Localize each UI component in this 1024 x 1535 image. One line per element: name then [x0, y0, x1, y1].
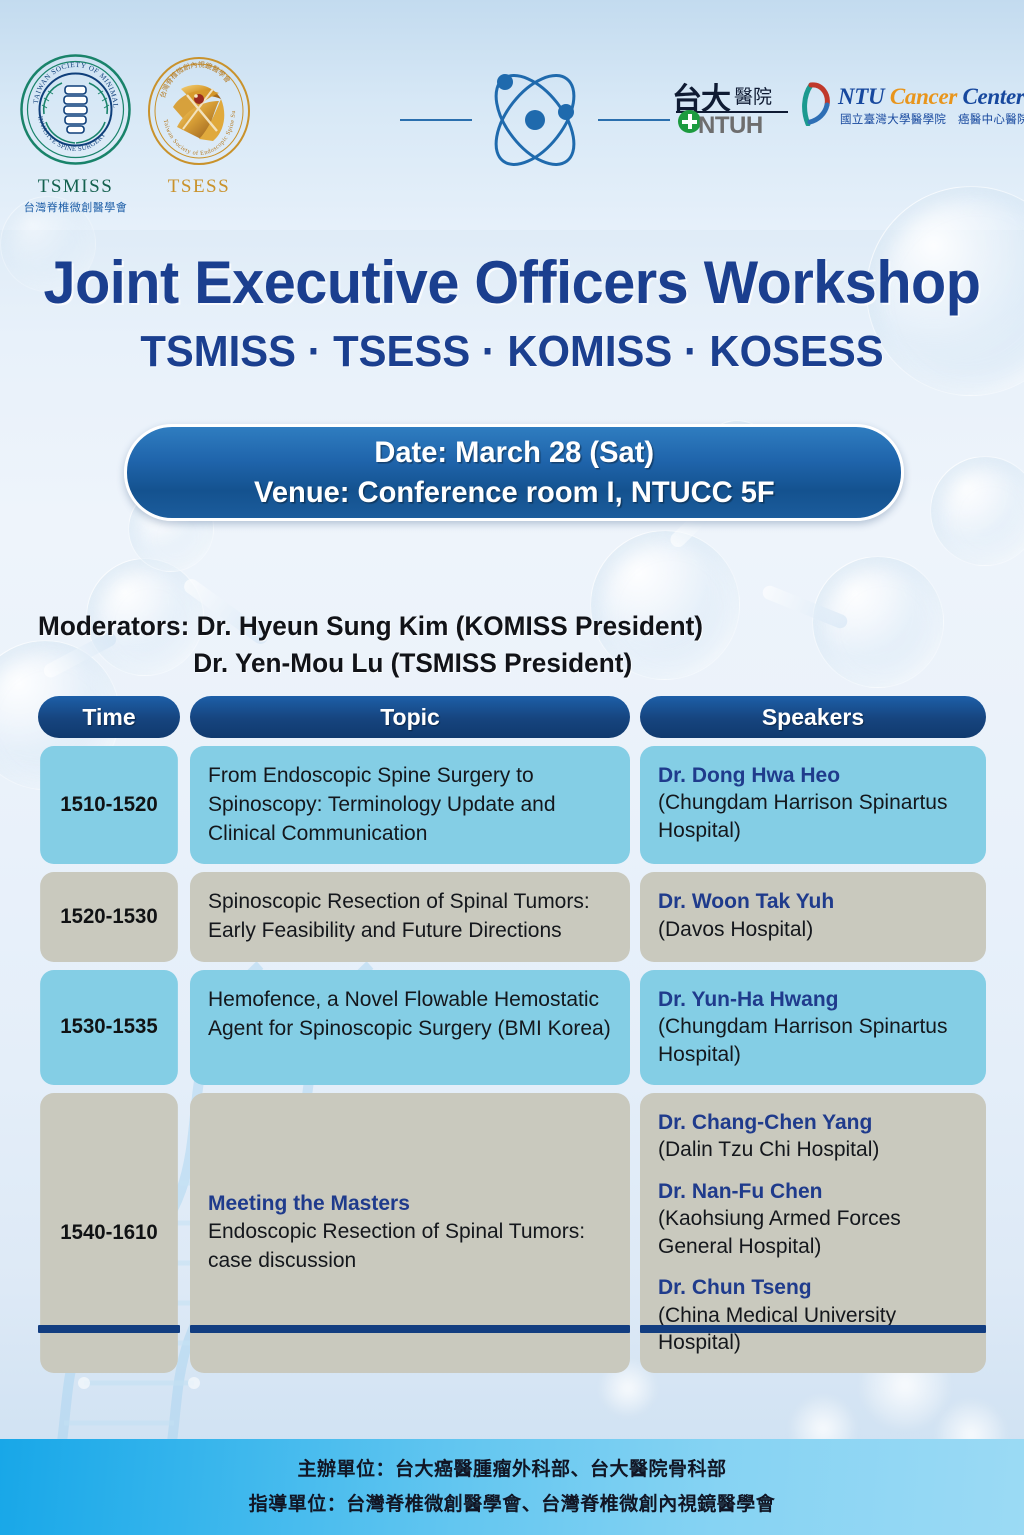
speaker-entry: Dr. Chun Tseng (China Medical University… — [658, 1274, 968, 1357]
tsess-logo: 台灣脊椎微創內視鏡醫學會 Taiwan Society of Endoscopi… — [140, 55, 258, 198]
moderator-line-1: Moderators: Dr. Hyeun Sung Kim (KOMISS P… — [38, 608, 717, 645]
row-topic-body: Endoscopic Resection of Spinal Tumors: c… — [208, 1220, 585, 1272]
ncc-cancer-text: Cancer — [890, 84, 957, 109]
column-header-topic: Topic — [190, 696, 630, 738]
table-bottom-rules — [38, 1325, 986, 1333]
row-topic: Hemofence, a Novel Flowable Hemostatic A… — [190, 970, 630, 1085]
row-time: 1520-1530 — [40, 872, 178, 962]
bottom-rule-speakers — [640, 1325, 986, 1333]
row-speakers: Dr. Woon Tak Yuh (Davos Hospital) — [640, 872, 986, 962]
table-row: 1530-1535 Hemofence, a Novel Flowable He… — [38, 970, 986, 1085]
speaker-name: Dr. Chang-Chen Yang — [658, 1109, 968, 1136]
page-subtitle: TSMISS · TSESS · KOMISS · KOSESS — [26, 327, 999, 377]
tsmiss-abbr: TSMISS — [18, 176, 133, 198]
row-topic-text: Spinoscopic Resection of Spinal Tumors: … — [208, 888, 612, 946]
speaker-name: Dr. Dong Hwa Heo — [658, 762, 968, 789]
ntuh-cjk-suffix: 醫院 — [734, 82, 772, 109]
bottom-rule-topic — [190, 1325, 630, 1333]
speaker-name: Dr. Woon Tak Yuh — [658, 888, 968, 915]
tsmiss-logo: TAIWAN SOCIETY OF MINIMALLY INVASIVE SPI… — [18, 52, 133, 215]
speaker-entry: Dr. Woon Tak Yuh (Davos Hospital) — [658, 888, 968, 943]
row-topic-text: Meeting the Masters Endoscopic Resection… — [208, 1190, 612, 1276]
moderator-line-2: Dr. Yen-Mou Lu (TSMISS President) — [38, 645, 717, 682]
poster-footer: 主辦單位：台大癌醫腫瘤外科部、台大醫院骨科部 指導單位：台灣脊椎微創醫學會、台灣… — [0, 1439, 1024, 1535]
speaker-affiliation: (Davos Hospital) — [658, 916, 968, 944]
moderators-block: Moderators: Dr. Hyeun Sung Kim (KOMISS P… — [38, 608, 738, 681]
row-speakers: Dr. Yun-Ha Hwang (Chungdam Harrison Spin… — [640, 970, 986, 1085]
row-topic-lead: Meeting the Masters — [208, 1190, 612, 1219]
ntuh-latin-mark: NTUH — [698, 112, 763, 140]
atom-icon — [400, 60, 670, 180]
ncc-center-text: Center — [962, 84, 1024, 109]
ncc-ntu-text: NTU — [838, 84, 884, 109]
ncc-title: NTU Cancer Center — [838, 84, 1024, 110]
tsmiss-zh-name: 台灣脊椎微創醫學會 — [18, 199, 133, 215]
page-title: Joint Executive Officers Workshop — [20, 248, 1003, 317]
speaker-entry: Dr. Nan-Fu Chen (Kaohsiung Armed Forces … — [658, 1178, 968, 1261]
speaker-affiliation: (Kaohsiung Armed Forces General Hospital… — [658, 1205, 968, 1260]
row-speakers: Dr. Dong Hwa Heo (Chungdam Harrison Spin… — [640, 746, 986, 864]
row-topic-text: Hemofence, a Novel Flowable Hemostatic A… — [208, 986, 612, 1044]
table-row: 1510-1520 From Endoscopic Spine Surgery … — [38, 746, 986, 864]
conference-poster: TAIWAN SOCIETY OF MINIMALLY INVASIVE SPI… — [0, 0, 1024, 1535]
schedule-table: Time Topic Speakers 1510-1520 From Endos… — [38, 696, 986, 1381]
date-venue-banner: Date: March 28 (Sat) Venue: Conference r… — [124, 424, 904, 521]
organizer-line: 主辦單位：台大癌醫腫瘤外科部、台大醫院骨科部 — [297, 1452, 726, 1487]
speaker-affiliation: (Chungdam Harrison Spinartus Hospital) — [658, 1013, 968, 1068]
speaker-name: Dr. Yun-Ha Hwang — [658, 986, 968, 1013]
table-header-row: Time Topic Speakers — [38, 696, 986, 738]
ntu-cancer-center-logo: NTU Cancer Center 國立臺灣大學醫學院 癌醫中心醫院 — [802, 80, 1002, 138]
speaker-affiliation: (Chungdam Harrison Spinartus Hospital) — [658, 789, 968, 844]
bottom-rule-time — [38, 1325, 180, 1333]
column-header-speakers: Speakers — [640, 696, 986, 738]
molecule-bubble — [812, 556, 944, 688]
speaker-affiliation: (Dalin Tzu Chi Hospital) — [658, 1136, 968, 1164]
table-row: 1520-1530 Spinoscopic Resection of Spina… — [38, 872, 986, 962]
poster-header: TAIWAN SOCIETY OF MINIMALLY INVASIVE SPI… — [0, 0, 1024, 210]
speaker-entry: Dr. Dong Hwa Heo (Chungdam Harrison Spin… — [658, 762, 968, 845]
speaker-entry: Dr. Yun-Ha Hwang (Chungdam Harrison Spin… — [658, 986, 968, 1069]
tsess-seal-icon: 台灣脊椎微創內視鏡醫學會 Taiwan Society of Endoscopi… — [143, 55, 255, 167]
tsess-abbr: TSESS — [140, 176, 258, 198]
ntuh-logo: 台大 醫院 NTUH — [672, 78, 792, 140]
row-time: 1510-1520 — [40, 746, 178, 864]
ncc-zh-name: 國立臺灣大學醫學院 癌醫中心醫院 — [840, 111, 1024, 127]
column-header-time: Time — [38, 696, 180, 738]
row-topic: From Endoscopic Spine Surgery to Spinosc… — [190, 746, 630, 864]
hospital-logos: 台大 醫院 NTUH NTU Cancer Center 國立臺灣大學醫學院 癌… — [672, 78, 1002, 140]
event-date: Date: March 28 (Sat) — [374, 433, 654, 473]
row-time: 1530-1535 — [40, 970, 178, 1085]
speaker-entry: Dr. Chang-Chen Yang (Dalin Tzu Chi Hospi… — [658, 1109, 968, 1164]
atom-decoration — [400, 60, 670, 180]
speaker-name: Dr. Chun Tseng — [658, 1274, 968, 1301]
row-topic: Spinoscopic Resection of Spinal Tumors: … — [190, 872, 630, 962]
supervisor-line: 指導單位：台灣脊椎微創醫學會、台灣脊椎微創內視鏡醫學會 — [249, 1487, 776, 1522]
event-venue: Venue: Conference room I, NTUCC 5F — [254, 473, 775, 513]
row-topic-text: From Endoscopic Spine Surgery to Spinosc… — [208, 762, 612, 848]
speaker-name: Dr. Nan-Fu Chen — [658, 1178, 968, 1205]
molecule-bubble — [930, 456, 1024, 566]
molecule-bond — [761, 584, 850, 631]
ncc-ribbon-icon — [802, 82, 832, 126]
tsmiss-seal-icon: TAIWAN SOCIETY OF MINIMALLY INVASIVE SPI… — [18, 52, 133, 167]
